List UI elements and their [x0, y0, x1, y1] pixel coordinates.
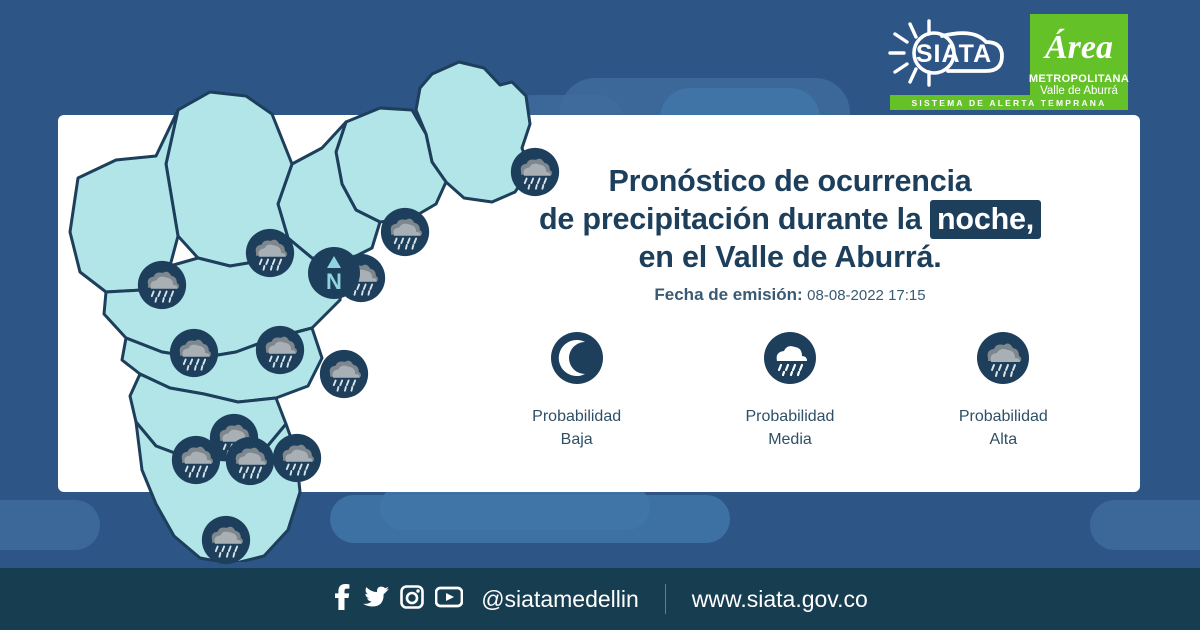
- map-marker-alta-9[interactable]: [170, 434, 222, 491]
- website-url[interactable]: www.siata.gov.co: [692, 586, 868, 613]
- emission-value: 08-08-2022 17:15: [807, 287, 925, 304]
- map-marker-alta-10[interactable]: [224, 435, 276, 492]
- area-metropolitana-logo[interactable]: Área METROPOLITANA Valle de Aburrá: [1030, 14, 1128, 102]
- siata-tagline: SISTEMA DE ALERTA TEMPRANA: [890, 95, 1128, 110]
- cloud-rain-moon-icon: [697, 330, 882, 391]
- headline-line-3: en el Valle de Aburrá.: [470, 238, 1110, 276]
- legend-label-media-line2: Media: [697, 428, 882, 451]
- social-handle[interactable]: @siatamedellin: [481, 586, 639, 613]
- map-marker-alta-12[interactable]: [200, 514, 252, 571]
- legend-label-alta-line1: Probabilidad: [911, 405, 1096, 428]
- map-marker-alta-5[interactable]: [168, 327, 220, 384]
- cloud-heavy-rain-icon: [911, 330, 1096, 391]
- legend-label-alta-line2: Alta: [911, 428, 1096, 451]
- legend-label-media: Probabilidad Media: [697, 405, 882, 451]
- instagram-icon[interactable]: [400, 585, 424, 614]
- twitter-icon[interactable]: [363, 584, 389, 615]
- headline-line-2-text: de precipitación durante la: [539, 202, 930, 236]
- headline-highlight-noche: noche,: [930, 200, 1041, 239]
- logo-group: SIATA Área METROPOLITANA Valle de Aburrá: [882, 14, 1128, 104]
- youtube-icon[interactable]: [435, 586, 463, 613]
- map-marker-alta-4[interactable]: [136, 259, 188, 316]
- compass-north-icon: N: [306, 245, 362, 306]
- legend-label-baja-line1: Probabilidad: [484, 405, 669, 428]
- legend-label-baja: Probabilidad Baja: [484, 405, 669, 451]
- moon-icon: [484, 330, 669, 391]
- legend-label-baja-line2: Baja: [484, 428, 669, 451]
- map-marker-alta-11[interactable]: [271, 432, 323, 489]
- compass-label: N: [326, 269, 342, 294]
- footer-bar: @siatamedellin www.siata.gov.co: [0, 568, 1200, 630]
- headline-line-2: de precipitación durante la noche,: [470, 200, 1110, 238]
- social-icon-group: [332, 584, 463, 615]
- legend-item-media[interactable]: Probabilidad Media: [697, 330, 882, 451]
- siata-logo[interactable]: SIATA: [882, 14, 1022, 92]
- headline-line-1: Pronóstico de ocurrencia: [470, 162, 1110, 200]
- facebook-icon[interactable]: [332, 584, 352, 615]
- siata-wordmark: SIATA: [916, 40, 992, 68]
- area-wordmark: Área: [1043, 29, 1113, 66]
- legend-label-alta: Probabilidad Alta: [911, 405, 1096, 451]
- probability-legend: Probabilidad Baja: [470, 330, 1110, 451]
- background-cloud-right: [1090, 500, 1200, 550]
- footer-divider: [665, 584, 666, 614]
- poster-root: N SIATA: [0, 0, 1200, 630]
- emission-date: Fecha de emisión: 08-08-2022 17:15: [470, 285, 1110, 305]
- map-marker-alta-7[interactable]: [318, 348, 370, 405]
- legend-item-baja[interactable]: Probabilidad Baja: [484, 330, 669, 451]
- legend-item-alta[interactable]: Probabilidad Alta: [911, 330, 1096, 451]
- legend-label-media-line1: Probabilidad: [697, 405, 882, 428]
- page-title: Pronóstico de ocurrencia de precipitació…: [470, 162, 1110, 276]
- emission-label: Fecha de emisión:: [654, 285, 802, 304]
- area-script-icon: Área: [1030, 18, 1128, 75]
- map-marker-alta-6[interactable]: [254, 324, 306, 381]
- map-marker-alta-2[interactable]: [244, 227, 296, 284]
